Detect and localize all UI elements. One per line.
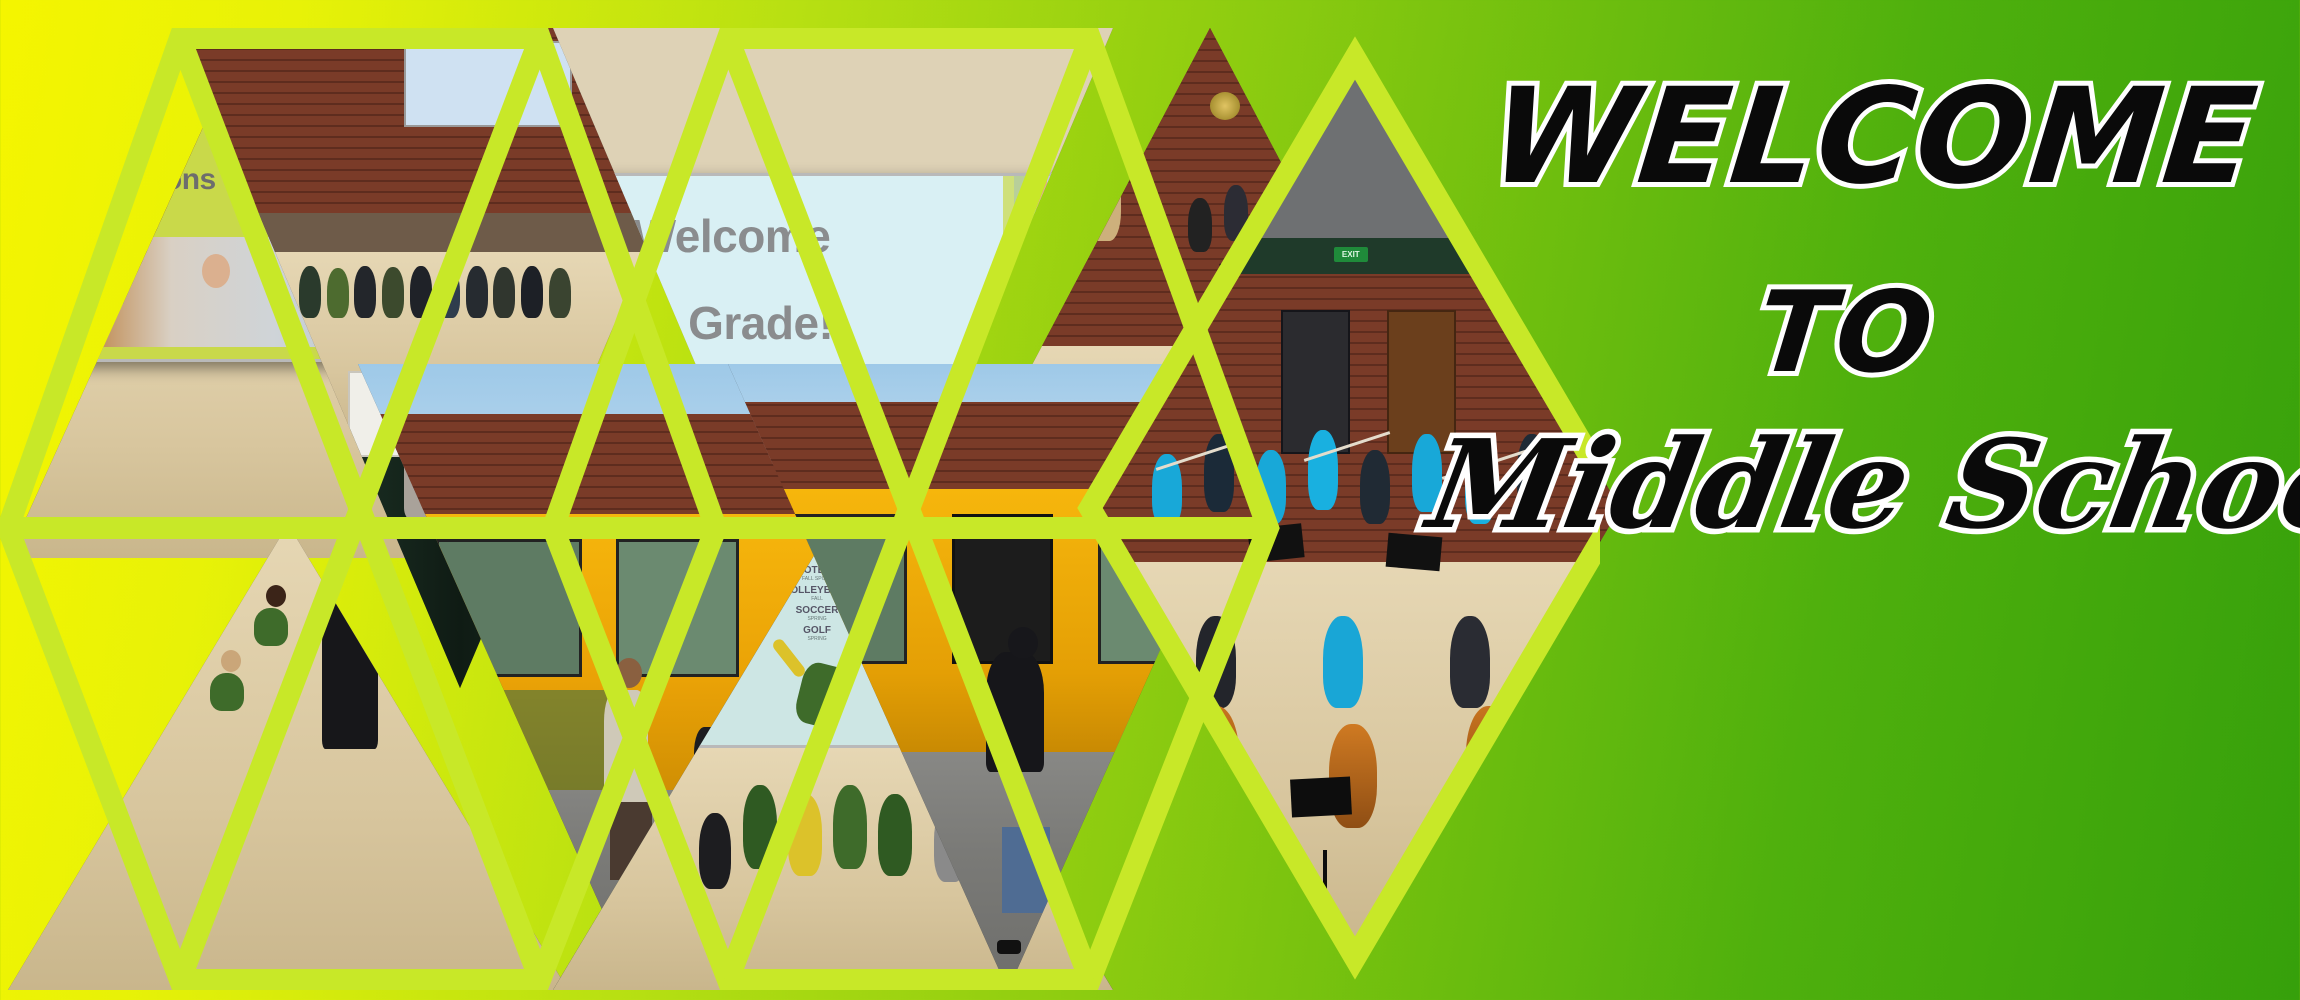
welcome-banner: hool xpectations: [0, 0, 2300, 1000]
welcome-slide-title-line2: 5th Grade!: [608, 299, 833, 347]
headline-welcome: WELCOME: [1484, 60, 2265, 214]
welcome-slide-title-line1: Welcome: [633, 212, 831, 260]
headline-middle-school: Middle School!: [1419, 412, 2300, 556]
expectations-line2: xpectations: [55, 164, 216, 196]
photo-collage: hool xpectations: [0, 28, 1600, 990]
expectations-line1: hool: [69, 115, 130, 147]
speaker-figure: [322, 599, 378, 749]
exit-sign: EXIT: [1334, 247, 1368, 262]
headline-to: TO: [1751, 268, 1940, 398]
student-figure: [986, 652, 1044, 772]
